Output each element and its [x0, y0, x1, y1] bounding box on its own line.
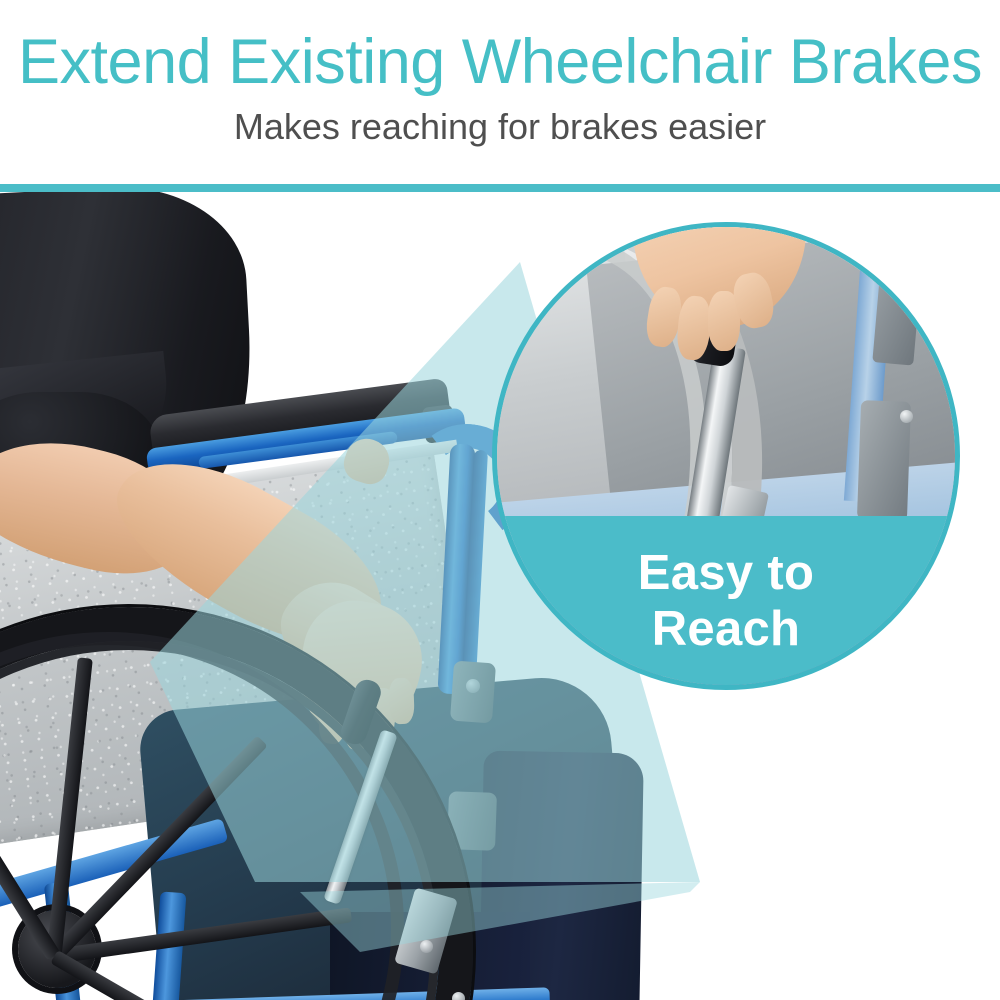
callout-caption-line1: Easy to	[497, 545, 955, 601]
person-finger	[388, 678, 415, 725]
brake-lever-pin	[452, 992, 465, 1000]
product-feature-image: Extend Existing Wheelchair Brakes Makes …	[0, 0, 1000, 1000]
header: Extend Existing Wheelchair Brakes Makes …	[0, 0, 1000, 184]
zoom-callout-circle: Easy to Reach	[492, 222, 960, 690]
page-subtitle: Makes reaching for brakes easier	[0, 105, 1000, 149]
bracket-bolt	[466, 679, 480, 693]
callout-caption-line2: Reach	[497, 601, 955, 657]
page-title: Extend Existing Wheelchair Brakes	[0, 28, 1000, 96]
brake-lever-pin	[420, 940, 433, 953]
header-divider	[0, 184, 1000, 192]
callout-bolt	[889, 277, 905, 293]
product-photo: Easy to Reach	[0, 192, 1000, 1000]
